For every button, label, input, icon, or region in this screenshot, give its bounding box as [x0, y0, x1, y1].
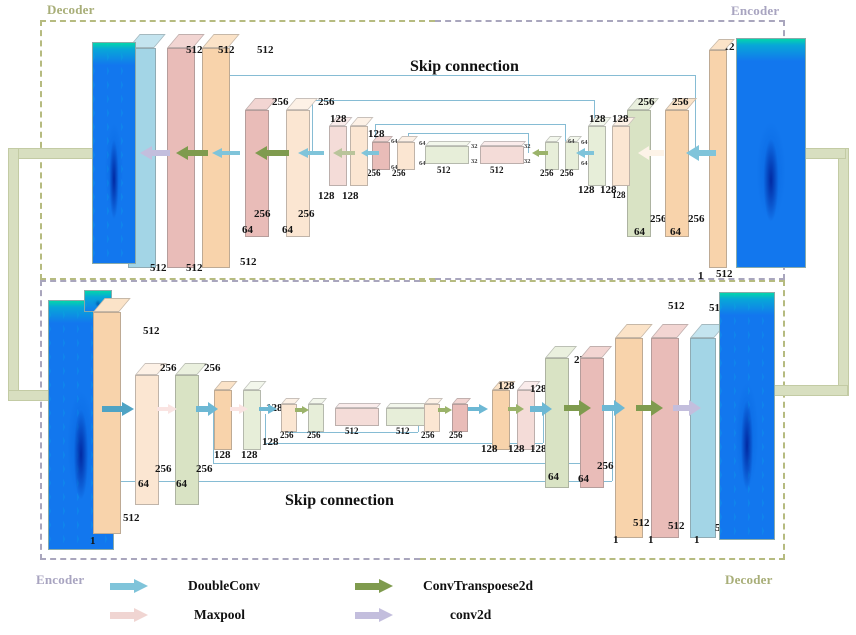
input-spectrogram-top: [736, 38, 806, 268]
slab-bot-l4: [214, 390, 230, 448]
slab-bot-bn1: [281, 404, 295, 430]
num-bot-bn-256a: 256: [280, 430, 294, 440]
num-top-128-i: 128: [342, 190, 359, 202]
num-top-128-f: 128: [368, 128, 385, 140]
num-top-64-d: 64: [282, 224, 293, 236]
num-bot-128-e: 128: [498, 380, 515, 392]
skip-connection-label-top: Skip connection: [410, 58, 519, 76]
arrow-doubleconv-bot-3: [259, 404, 277, 414]
legend: DoubleConv ConvTranspoese2d Maxpool conv…: [110, 578, 630, 632]
num-bot-1-c: 1: [648, 534, 654, 546]
legend-label-maxpool: Maxpool: [194, 607, 245, 623]
legend-item-doubleconv: DoubleConv: [110, 578, 260, 594]
arrow-convtranspose-bot-1: [508, 404, 524, 414]
output-spectrogram-bottom: [719, 292, 775, 540]
slab-top-bn4: [425, 146, 467, 162]
num-top-512-c: 512: [257, 44, 274, 56]
num-top-512-b: 512: [218, 44, 235, 56]
num-top-tiny-3: 64: [419, 140, 426, 147]
skip-connection-label-bottom: Skip connection: [285, 492, 394, 510]
num-bot-bn-256d: 256: [449, 430, 463, 440]
num-bot-128-a: 128: [214, 449, 231, 461]
arrow-maxpool-bot-1: [157, 404, 177, 414]
num-bot-1-d: 1: [694, 534, 700, 546]
num-top-tiny-2: 64: [391, 164, 398, 171]
right-arrow-icon: [355, 608, 395, 622]
arrow-doubleconv-top-7: [686, 145, 716, 161]
num-bot-1-b: 1: [613, 534, 619, 546]
slab-bot-r1a: [690, 338, 714, 536]
slab-bot-l5: [243, 390, 259, 448]
skip-wire-top-3: [375, 124, 565, 125]
num-top-bn-512a: 512: [437, 165, 451, 175]
slab-bot-r5: [492, 390, 508, 448]
num-bot-64-b: 64: [176, 478, 187, 490]
output-spectrogram-top: [92, 42, 136, 264]
legend-item-conv2d: conv2d: [355, 607, 491, 623]
slab-bot-bn6: [452, 404, 466, 430]
num-top-r1: 1: [698, 270, 704, 282]
arrow-doubleconv-top-5: [576, 148, 594, 158]
legend-item-maxpool: Maxpool: [110, 607, 245, 623]
num-bot-bn-256c: 256: [421, 430, 435, 440]
num-bot-128-d: 128: [262, 436, 279, 448]
num-top-256-e: 256: [272, 96, 289, 108]
arrow-doubleconv-bot-7: [530, 402, 552, 416]
legend-label-conv2d: conv2d: [450, 607, 491, 623]
num-top-512-d: 512: [150, 262, 167, 274]
slab-bot-r1c: [615, 338, 641, 536]
slab-top-r5: [612, 126, 628, 184]
num-bot-1-a: 1: [90, 535, 96, 547]
num-top-tiny-6: 32: [471, 158, 478, 165]
arrow-convtranspose-top-3: [333, 148, 355, 158]
arrow-convtranspose-bot-3: [636, 400, 662, 416]
arrow-doubleconv-top-3: [361, 149, 379, 157]
arrow-doubleconv-bot-4: [295, 406, 309, 414]
num-top-512-e: 512: [186, 262, 203, 274]
architecture-diagram: Decoder Encoder Encoder Decoder: [0, 0, 856, 635]
num-top-tiny-11: 64: [581, 160, 588, 167]
num-bot-512-c: 512: [668, 300, 685, 312]
arrow-doubleconv-top-1: [212, 148, 240, 158]
slab-bot-bn4: [386, 408, 428, 424]
num-top-256-h: 256: [298, 208, 315, 220]
num-bot-64-c: 64: [548, 471, 559, 483]
skip-wire-top-2: [312, 100, 594, 101]
arrow-doubleconv-bot-2: [196, 403, 218, 415]
num-top-128-e: 128: [612, 190, 626, 200]
num-bot-bn-256b: 256: [307, 430, 321, 440]
num-top-tiny-8: 32: [524, 158, 531, 165]
num-bot-256-f: 256: [597, 460, 614, 472]
num-bot-256-b: 256: [155, 463, 172, 475]
slab-bot-r4: [517, 390, 533, 448]
legend-label-convtranspose: ConvTranspoese2d: [423, 578, 533, 594]
arrow-convtranspose-top-2: [255, 146, 289, 160]
num-top-bn-512b: 512: [490, 165, 504, 175]
num-bot-512-d: 512: [633, 517, 650, 529]
num-top-128-a: 128: [589, 113, 606, 125]
num-bot-512-a: 512: [143, 325, 160, 337]
num-top-128-c: 128: [612, 113, 629, 125]
slab-bot-l1: [93, 312, 119, 532]
slab-bot-r1b: [651, 338, 677, 536]
right-arrow-icon: [110, 608, 150, 622]
num-top-tiny-9: 64: [568, 138, 575, 145]
slab-bot-bn2: [308, 404, 322, 430]
num-top-tiny-4: 64: [419, 160, 426, 167]
num-top-bn-256b: 256: [560, 168, 574, 178]
legend-label-doubleconv: DoubleConv: [188, 578, 260, 594]
num-top-bn-256c: 256: [367, 168, 381, 178]
slab-bot-bn5: [424, 404, 438, 430]
num-top-bn-256a: 256: [540, 168, 554, 178]
num-bot-64-a: 64: [138, 478, 149, 490]
label-encoder-bottom-left: Encoder: [36, 572, 84, 588]
num-top-512-f: 512: [240, 256, 257, 268]
num-bot-bn-512b: 512: [396, 426, 410, 436]
num-bot-64-d: 64: [578, 473, 589, 485]
skip-wire-top-4: [408, 133, 528, 134]
slab-bot-r3: [545, 358, 567, 486]
num-top-tiny-5: 32: [471, 143, 478, 150]
num-top-in-512b: 512: [716, 268, 733, 280]
label-decoder-bottom-right: Decoder: [725, 572, 773, 588]
arrow-doubleconv-bot-8: [602, 400, 624, 416]
num-top-64-c: 64: [242, 224, 253, 236]
arrow-maxpool-bot-2: [230, 404, 248, 414]
num-top-256-a: 256: [638, 96, 655, 108]
arrow-doubleconv-bot-5: [438, 406, 452, 414]
label-encoder-top-right: Encoder: [731, 3, 779, 19]
num-bot-256-c: 256: [204, 362, 221, 374]
num-top-128-h: 128: [318, 190, 335, 202]
legend-item-convtranspose: ConvTranspoese2d: [355, 578, 533, 594]
num-bot-256-d: 256: [196, 463, 213, 475]
arrow-conv2d-top: [140, 146, 170, 160]
num-bot-128-f: 128: [481, 443, 498, 455]
num-top-tiny-7: 32: [524, 143, 531, 150]
skip-wire-bot-2: [213, 463, 602, 464]
slab-top-bn3: [480, 146, 522, 162]
num-top-128-b: 128: [578, 184, 595, 196]
num-bot-128-h: 128: [508, 443, 525, 455]
skip-wire-top-1v2: [695, 75, 696, 153]
arrow-convtranspose-bot-2: [564, 400, 590, 416]
num-top-256-g: 256: [318, 96, 335, 108]
slab-top-r2: [627, 110, 649, 235]
slab-bot-bn3: [335, 408, 377, 424]
num-bot-256-a: 256: [160, 362, 177, 374]
skip-wire-bot-3v2: [543, 414, 544, 443]
num-top-64-b: 64: [670, 226, 681, 238]
skip-wire-top-2v: [312, 100, 313, 153]
num-bot-bn-512a: 512: [345, 426, 359, 436]
arrow-doubleconv-bot-6: [468, 404, 488, 414]
arrow-doubleconv-bot-1: [102, 402, 134, 416]
arrow-doubleconv-top-6: [638, 146, 664, 160]
num-top-tiny-10: 64: [581, 139, 588, 146]
slab-top-bn5: [397, 142, 413, 168]
label-decoder-top-left: Decoder: [47, 2, 95, 18]
arrow-doubleconv-top-2: [298, 148, 324, 158]
num-top-512-a: 512: [186, 44, 203, 56]
right-arrow-icon: [110, 579, 150, 593]
arrow-convtranspose-top-1: [176, 146, 208, 160]
num-top-tiny-1: 64: [391, 138, 398, 145]
num-top-64-a: 64: [634, 226, 645, 238]
num-bot-128-b: 128: [241, 449, 258, 461]
num-top-256-d: 256: [688, 213, 705, 225]
num-bot-512-b: 512: [123, 512, 140, 524]
right-arrow-icon: [355, 579, 395, 593]
arrow-conv2d-bot: [673, 400, 701, 416]
slab-top-r3: [665, 110, 687, 235]
arrow-doubleconv-top-4: [532, 149, 548, 157]
num-top-128-g: 128: [330, 113, 347, 125]
num-bot-512-f: 512: [668, 520, 685, 532]
num-top-256-c: 256: [672, 96, 689, 108]
num-top-256-f: 256: [254, 208, 271, 220]
